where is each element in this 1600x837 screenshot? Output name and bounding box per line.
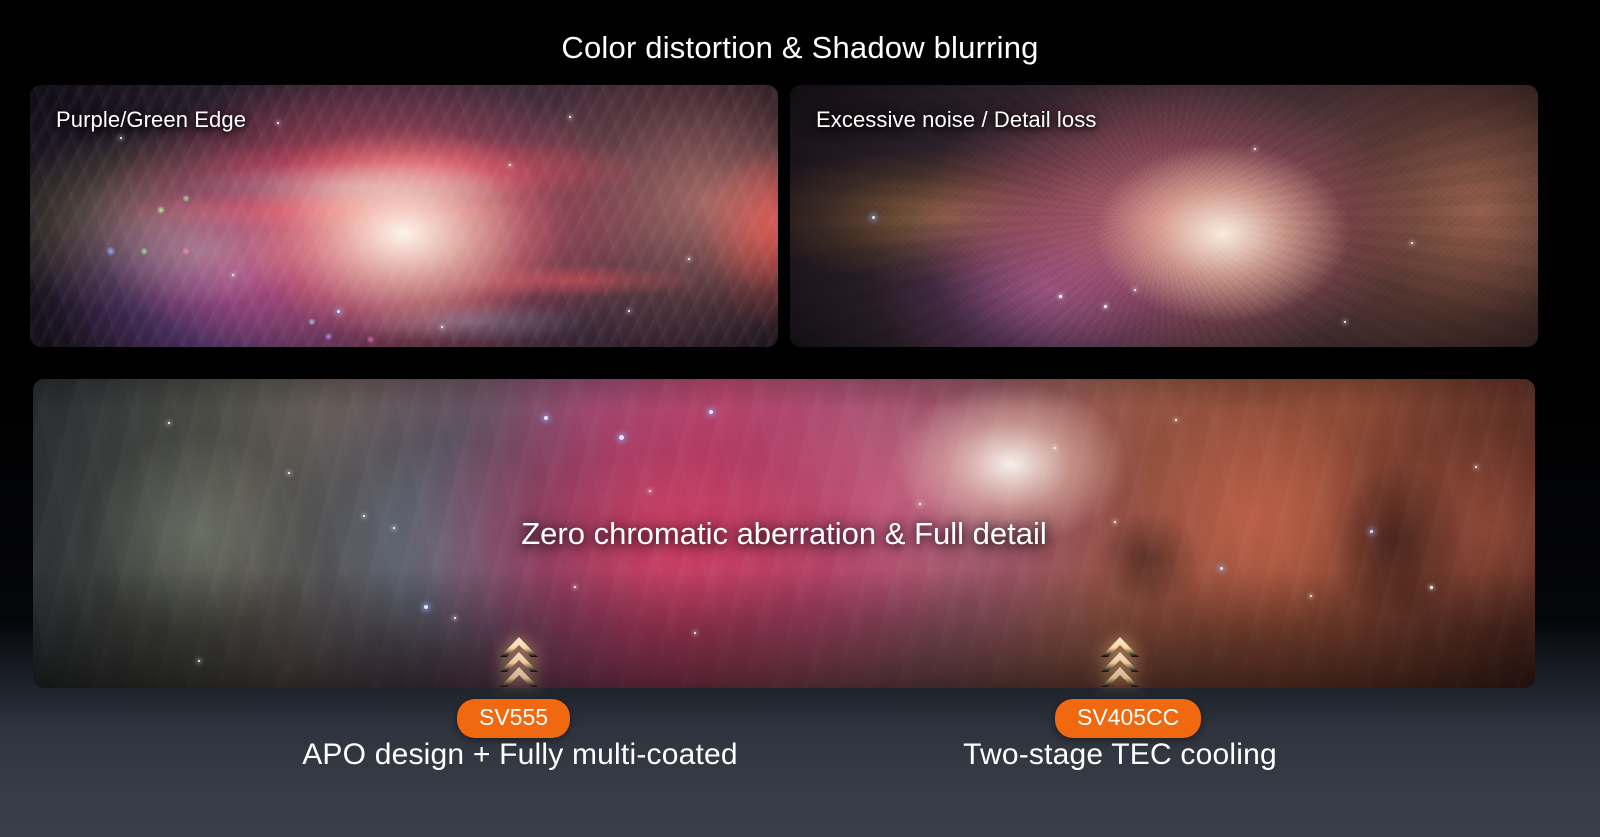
marker-sv405cc: [1085, 635, 1155, 691]
triple-chevron-up-icon: [484, 635, 554, 691]
footnote-tec-cooling: Two-stage TEC cooling: [760, 738, 1480, 772]
comparison-panel-top-right: Excessive noise / Detail loss: [790, 85, 1538, 347]
badge-sv555[interactable]: SV555: [457, 699, 570, 738]
panel-label-purple-green-edge: Purple/Green Edge: [56, 107, 246, 133]
marker-sv555: [484, 635, 554, 691]
nebula-image-clean: [33, 379, 1535, 688]
comparison-panel-top-left: Purple/Green Edge: [30, 85, 778, 347]
showcase-panel: Zero chromatic aberration & Full detail: [33, 379, 1535, 688]
page-title: Color distortion & Shadow blurring: [0, 30, 1600, 66]
badge-sv405cc[interactable]: SV405CC: [1055, 699, 1201, 738]
slide-root: Color distortion & Shadow blurring Purpl…: [0, 0, 1600, 837]
triple-chevron-up-icon: [1085, 635, 1155, 691]
panel-label-excessive-noise: Excessive noise / Detail loss: [816, 107, 1096, 133]
